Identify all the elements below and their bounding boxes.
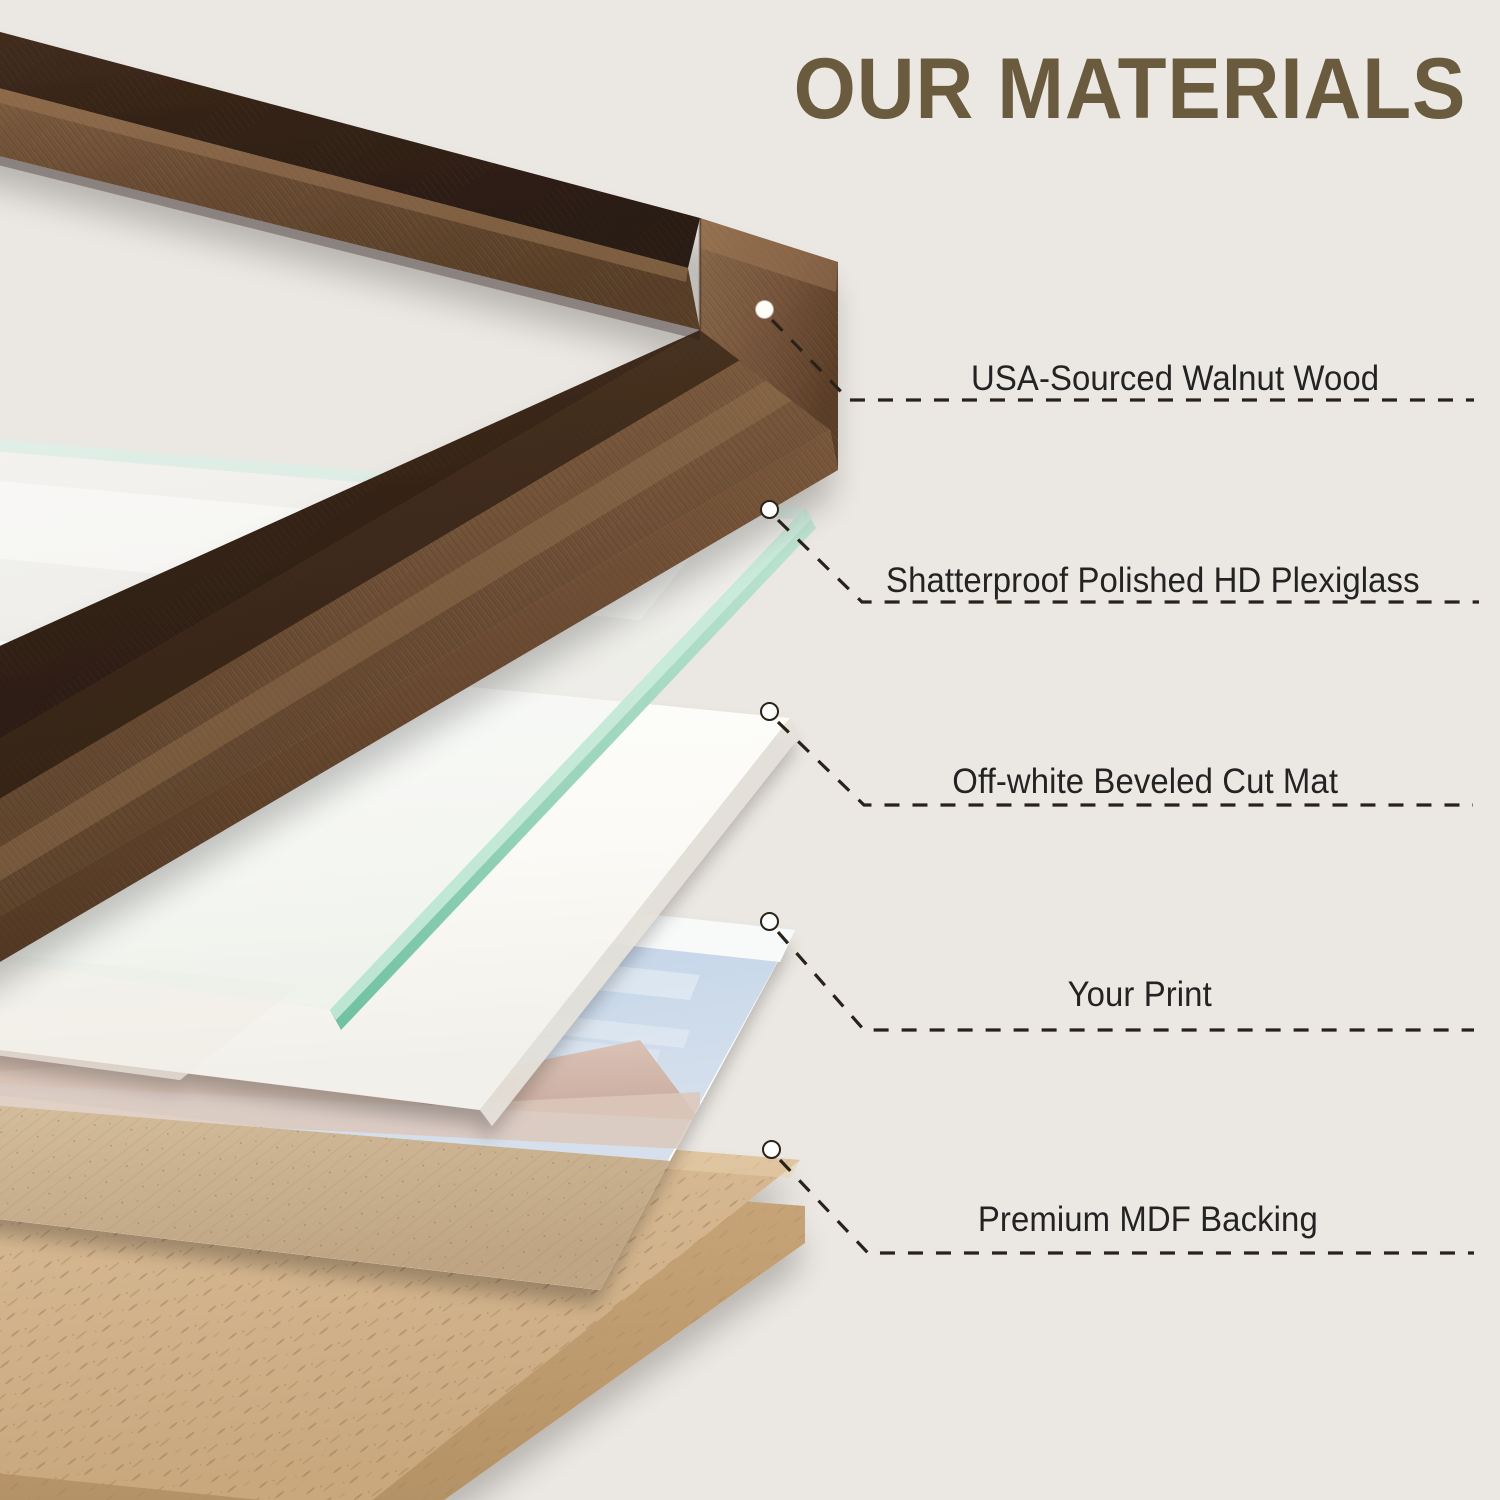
callout-marker-your-print[interactable]	[760, 912, 779, 931]
callout-marker-plexiglass[interactable]	[760, 500, 779, 519]
exploded-frame-illustration	[0, 0, 1500, 1500]
callout-marker-walnut-wood[interactable]	[755, 300, 774, 319]
callout-label-your-print: Your Print	[1068, 975, 1212, 1015]
callout-label-walnut-wood: USA-Sourced Walnut Wood	[971, 359, 1379, 399]
callout-label-cut-mat: Off-white Beveled Cut Mat	[952, 762, 1338, 802]
callout-marker-cut-mat[interactable]	[760, 702, 779, 721]
callout-label-plexiglass: Shatterproof Polished HD Plexiglass	[886, 561, 1420, 601]
callout-label-mdf-backing: Premium MDF Backing	[978, 1200, 1318, 1240]
infographic-canvas: OUR MATERIALS USA-Sourced Walnut Wood Sh…	[0, 0, 1500, 1500]
page-title: OUR MATERIALS	[793, 46, 1466, 132]
callout-marker-mdf-backing[interactable]	[762, 1140, 781, 1159]
